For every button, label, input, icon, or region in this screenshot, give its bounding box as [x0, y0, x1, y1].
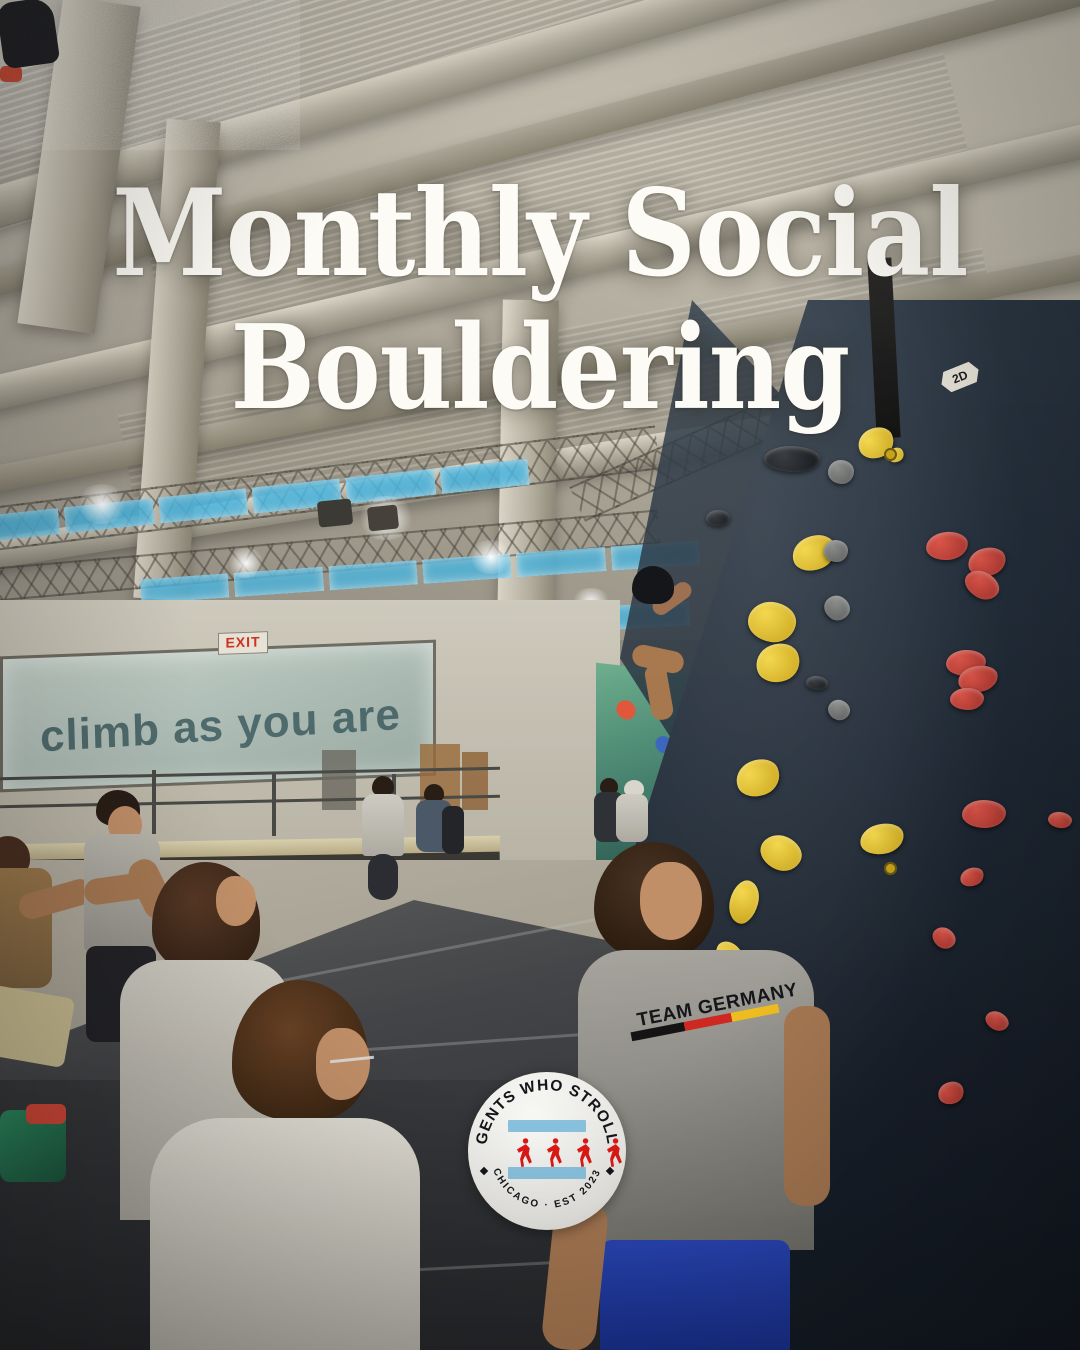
wall-bolt [884, 448, 897, 461]
climber-on-wall [0, 0, 56, 82]
ceiling-light [468, 540, 514, 574]
railing-post [152, 770, 156, 834]
flag-stripe-top [508, 1120, 586, 1132]
gents-who-stroll-logo[interactable]: GENTS WHO STROLL CHICAGO · EST 2023 [468, 1072, 626, 1230]
ceiling-light [76, 484, 128, 524]
ceiling-light [226, 548, 266, 578]
wall-bolt [884, 862, 897, 875]
exit-sign: EXIT [218, 631, 268, 655]
poster-canvas: EXIT climb as you are 2D [0, 0, 1080, 1350]
badge-diamond-left [480, 1167, 488, 1175]
ceiling-speaker [367, 504, 399, 531]
badge-diamond-right [606, 1167, 614, 1175]
back-door [462, 752, 488, 810]
railing-post [272, 772, 276, 836]
flag-stripe-bottom [508, 1167, 586, 1179]
ceiling-speaker [317, 498, 354, 527]
badge-top-text: GENTS WHO STROLL [473, 1077, 621, 1146]
backpack-strap [26, 1104, 66, 1124]
blue-shorts [600, 1240, 790, 1350]
